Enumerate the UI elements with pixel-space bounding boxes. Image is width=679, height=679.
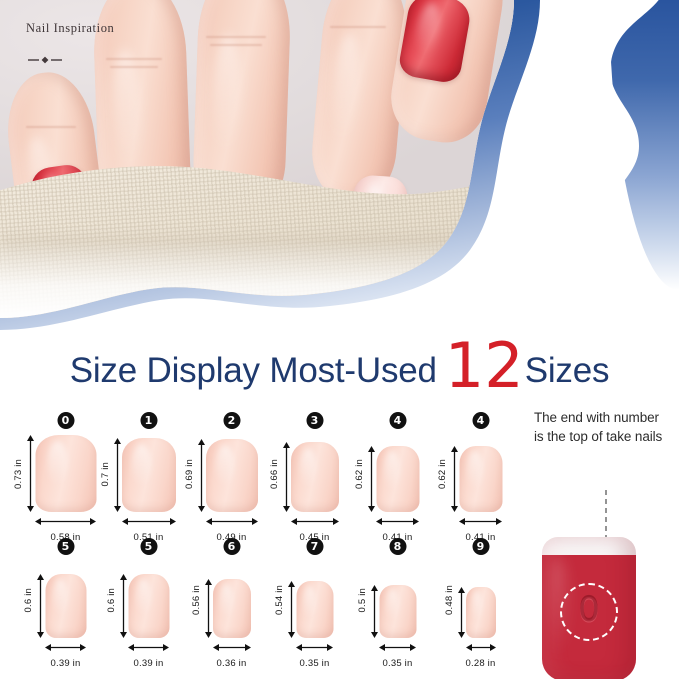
- hero-photo-section: Nail Inspiration: [0, 0, 679, 330]
- size-number-badge: 3: [306, 412, 323, 429]
- blue-accent-blob: [609, 0, 679, 290]
- nail-swatch[interactable]: [376, 446, 419, 512]
- size-chart-item[interactable]: 50.6 in0.39 in: [107, 538, 190, 664]
- size-number-badge: 4: [389, 412, 406, 429]
- nail-swatch-area: [273, 562, 356, 638]
- width-arrow-icon: [122, 517, 176, 526]
- width-label: 0.35 in: [356, 658, 439, 669]
- size-chart-item[interactable]: 80.5 in0.35 in: [356, 538, 439, 664]
- nail-swatch[interactable]: [35, 435, 96, 512]
- nail-swatch[interactable]: [459, 446, 502, 512]
- nail-swatch-area: [190, 436, 273, 512]
- height-label: 0.73 in: [13, 459, 24, 489]
- hero-caption: Nail Inspiration: [26, 21, 114, 36]
- size-chart-item[interactable]: 60.56 in0.36 in: [190, 538, 273, 664]
- size-chart-item[interactable]: 20.69 in0.49 in: [190, 412, 273, 538]
- size-number-badge: 2: [223, 412, 240, 429]
- size-chart-item[interactable]: 40.62 in0.41 in: [356, 412, 439, 538]
- nail-swatch[interactable]: [45, 574, 86, 638]
- size-number-badge: 8: [389, 538, 406, 555]
- nail-swatch-area: [190, 562, 273, 638]
- nail-swatch-area: [107, 436, 190, 512]
- size-chart-item[interactable]: 90.48 in0.28 in: [439, 538, 522, 664]
- width-dimension: 0.39 in: [107, 639, 190, 669]
- knuckle-crease: [110, 66, 158, 68]
- width-dimension: 0.28 in: [439, 639, 522, 669]
- knuckle-crease: [26, 126, 76, 128]
- width-dimension: 0.35 in: [273, 639, 356, 669]
- nail-swatch[interactable]: [206, 439, 258, 512]
- width-dimension: 0.39 in: [24, 639, 107, 669]
- nail-swatch[interactable]: [296, 581, 333, 638]
- instruction-text: The end with number is the top of take n…: [534, 408, 670, 446]
- nail-swatch-area: [273, 436, 356, 512]
- width-arrow-icon: [128, 643, 169, 652]
- page-title-tail: Sizes: [525, 351, 610, 391]
- width-arrow-icon: [206, 517, 258, 526]
- knuckle-crease: [330, 26, 386, 28]
- hand-photo: [0, 0, 530, 318]
- width-label: 0.39 in: [24, 658, 107, 669]
- page-title-count: 12: [445, 341, 524, 391]
- width-label: 0.36 in: [190, 658, 273, 669]
- nail-swatch-area: [439, 436, 522, 512]
- size-number-badge: 4: [472, 412, 489, 429]
- width-label: 0.28 in: [439, 658, 522, 669]
- size-chart: 00.73 in0.58 in10.7 in0.51 in20.69 in0.4…: [24, 412, 524, 664]
- size-number-badge: 9: [472, 538, 489, 555]
- size-number-badge: 5: [140, 538, 157, 555]
- width-dimension: 0.36 in: [190, 639, 273, 669]
- width-arrow-icon: [296, 643, 333, 652]
- sample-nail-graphic: 0: [542, 537, 636, 679]
- knuckle-crease: [206, 36, 266, 38]
- size-number-badge: 7: [306, 538, 323, 555]
- width-arrow-icon: [379, 643, 416, 652]
- nail-swatch-area: [107, 562, 190, 638]
- nail-swatch-area: [356, 436, 439, 512]
- size-chart-item[interactable]: 00.73 in0.58 in: [24, 412, 107, 538]
- page-title: Size Display Most-Used 12 Sizes: [0, 336, 679, 402]
- width-label: 0.39 in: [107, 658, 190, 669]
- width-arrow-icon: [35, 517, 96, 526]
- size-number-badge: 0: [57, 412, 74, 429]
- size-chart-item[interactable]: 10.7 in0.51 in: [107, 412, 190, 538]
- nail-swatch[interactable]: [122, 438, 176, 512]
- nail-swatch[interactable]: [379, 585, 416, 638]
- size-chart-row: 00.73 in0.58 in10.7 in0.51 in20.69 in0.4…: [24, 412, 524, 538]
- width-dimension: 0.35 in: [356, 639, 439, 669]
- width-arrow-icon: [376, 517, 419, 526]
- nail-swatch-area: [24, 436, 107, 512]
- size-chart-item[interactable]: 50.6 in0.39 in: [24, 538, 107, 664]
- knuckle-crease: [210, 44, 262, 46]
- width-arrow-icon: [291, 517, 339, 526]
- width-arrow-icon: [459, 517, 502, 526]
- size-chart-item[interactable]: 30.66 in0.45 in: [273, 412, 356, 538]
- size-number-badge: 5: [57, 538, 74, 555]
- nail-swatch[interactable]: [466, 587, 496, 638]
- size-number-badge: 1: [140, 412, 157, 429]
- nail-swatch[interactable]: [128, 574, 169, 638]
- size-chart-item[interactable]: 40.62 in0.41 in: [439, 412, 522, 538]
- width-arrow-icon: [213, 643, 251, 652]
- width-label: 0.35 in: [273, 658, 356, 669]
- knuckle-crease: [106, 58, 162, 60]
- page-title-main: Size Display Most-Used: [70, 351, 437, 391]
- nail-swatch[interactable]: [291, 442, 339, 512]
- width-arrow-icon: [45, 643, 86, 652]
- product-infographic: Nail Inspiration Size Display Most-Used …: [0, 0, 679, 679]
- nail-swatch[interactable]: [213, 579, 251, 638]
- width-arrow-icon: [466, 643, 496, 652]
- size-chart-item[interactable]: 70.54 in0.35 in: [273, 538, 356, 664]
- nail-swatch-area: [356, 562, 439, 638]
- size-chart-row: 50.6 in0.39 in50.6 in0.39 in60.56 in0.36…: [24, 538, 524, 664]
- nail-swatch-area: [439, 562, 522, 638]
- embossed-size-number: 0: [578, 593, 600, 627]
- diamond-divider-icon: [28, 52, 62, 62]
- nail-swatch-area: [24, 562, 107, 638]
- size-number-badge: 6: [223, 538, 240, 555]
- instruction-panel: The end with number is the top of take n…: [534, 408, 670, 446]
